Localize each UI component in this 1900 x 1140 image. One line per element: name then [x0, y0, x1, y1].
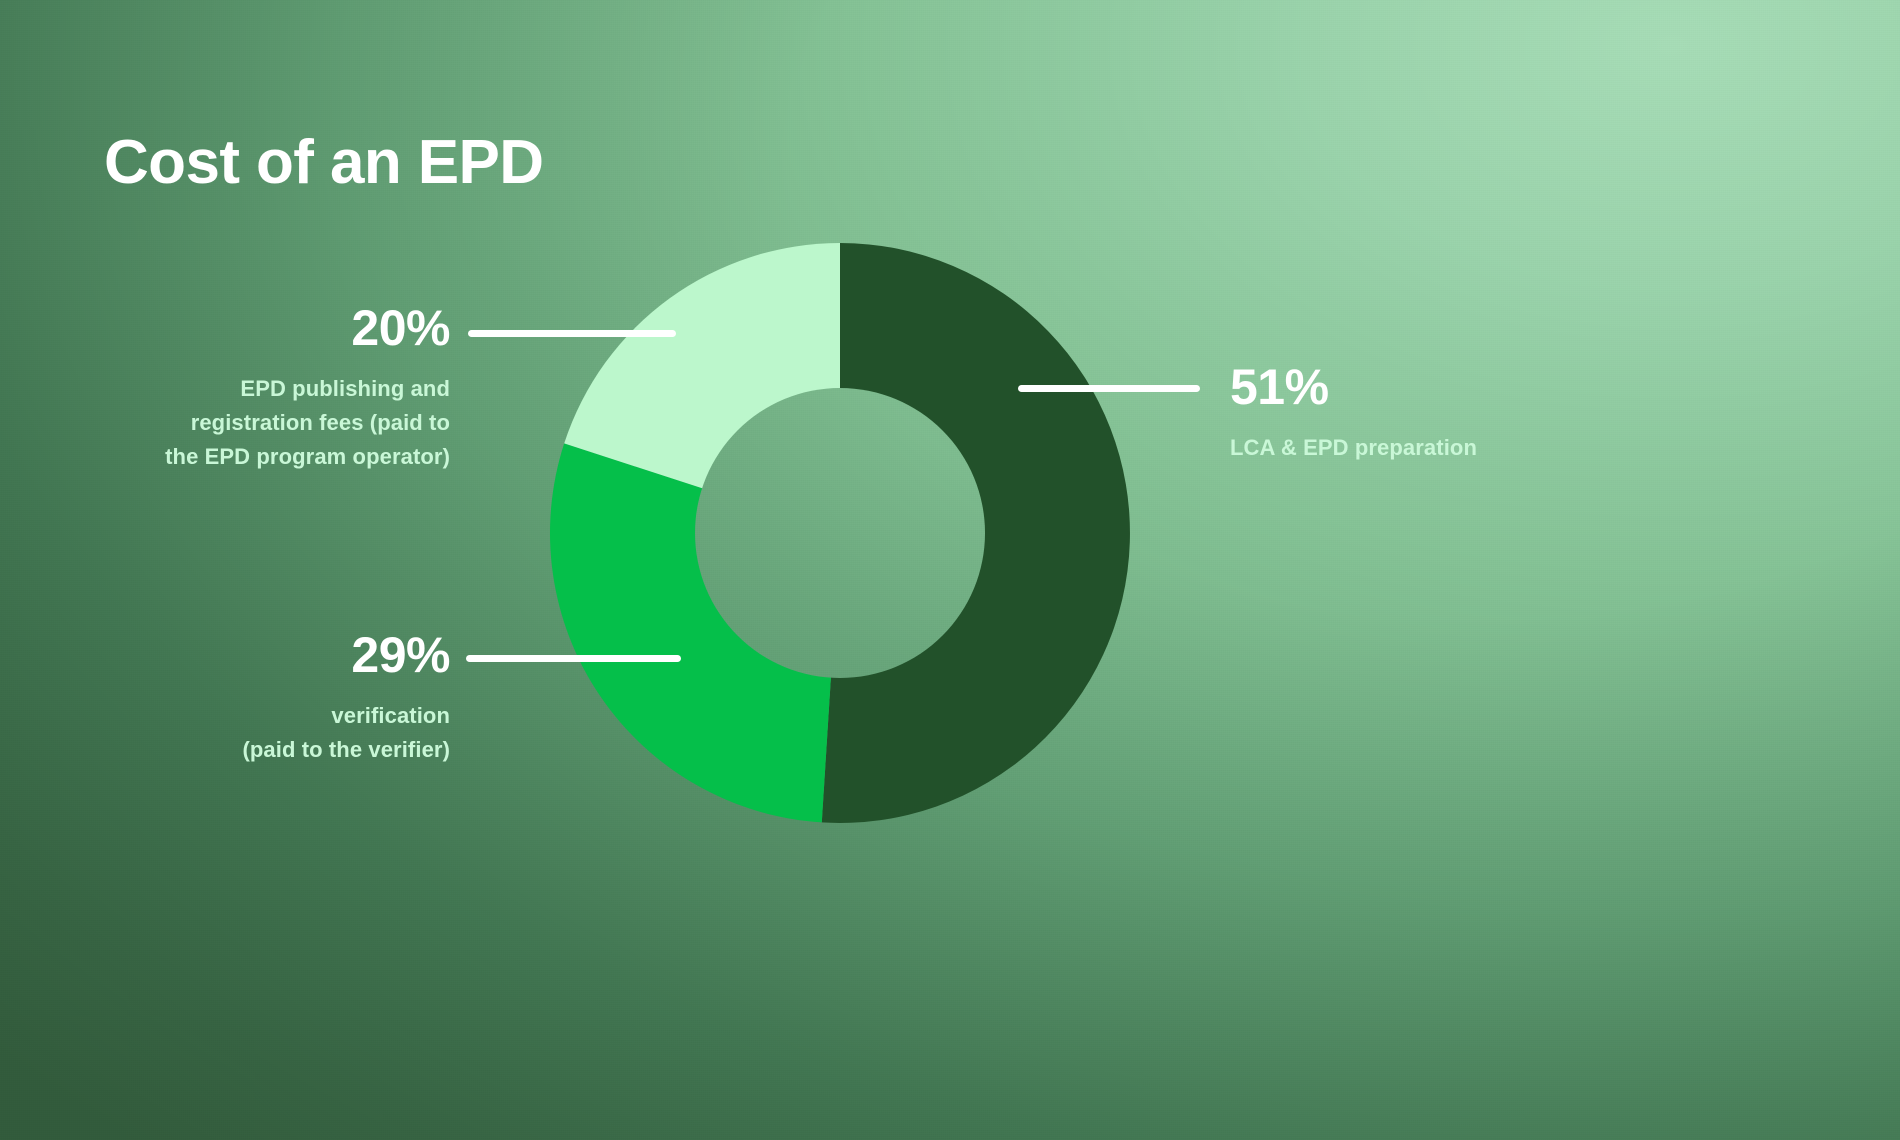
- callout-publishing-description: EPD publishing and registration fees (pa…: [60, 372, 450, 474]
- callout-lca-percent: 51%: [1230, 362, 1790, 412]
- callout-verification-description: verification (paid to the verifier): [60, 699, 450, 767]
- page-title: Cost of an EPD: [104, 130, 543, 195]
- donut-slice-lca: [822, 243, 1130, 823]
- callout-lca-description: LCA & EPD preparation: [1230, 431, 1790, 465]
- leader-line-publishing: [468, 330, 676, 337]
- callout-verification-description-line-2: (paid to the verifier): [60, 733, 450, 767]
- callout-publishing-percent: 20%: [60, 303, 450, 353]
- leader-line-lca: [1018, 385, 1200, 392]
- callout-verification-percent: 29%: [60, 630, 450, 680]
- callout-verification-description-line-1: verification: [60, 699, 450, 733]
- callout-verification: 29% verification (paid to the verifier): [60, 630, 450, 767]
- callout-publishing-description-line-2: registration fees (paid to: [60, 406, 450, 440]
- callout-publishing-description-line-1: EPD publishing and: [60, 372, 450, 406]
- infographic-canvas: Cost of an EPD 51% LCA & EPD preparation…: [0, 0, 1900, 1140]
- callout-publishing-description-line-3: the EPD program operator): [60, 440, 450, 474]
- callout-lca: 51% LCA & EPD preparation: [1230, 362, 1790, 465]
- callout-publishing: 20% EPD publishing and registration fees…: [60, 303, 450, 474]
- leader-line-verification: [466, 655, 681, 662]
